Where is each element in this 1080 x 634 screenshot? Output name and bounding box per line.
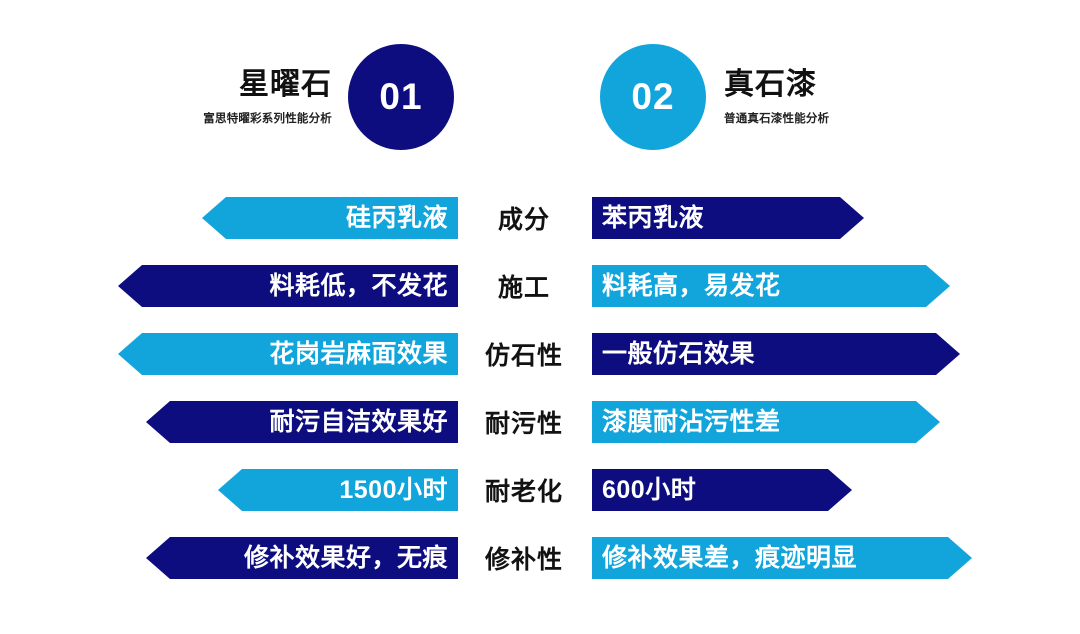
- comparison-rows: 硅丙乳液成分苯丙乳液料耗低，不发花施工料耗高，易发花花岗岩麻面效果仿石性一般仿石…: [0, 186, 1080, 594]
- comparison-bar-left: 耐污自洁效果好: [146, 401, 458, 443]
- comparison-attribute-label: 耐污性: [462, 401, 586, 443]
- comparison-bar-left: 花岗岩麻面效果: [118, 333, 458, 375]
- comparison-row: 硅丙乳液成分苯丙乳液: [0, 186, 1080, 254]
- comparison-bar-right-label: 苯丙乳液: [602, 206, 704, 231]
- comparison-bar-right: 漆膜耐沾污性差: [592, 401, 940, 443]
- comparison-row: 料耗低，不发花施工料耗高，易发花: [0, 254, 1080, 322]
- badge-circle-01: 01: [348, 44, 454, 150]
- comparison-bar-left-label: 耐污自洁效果好: [269, 410, 448, 435]
- badge-number-02: 02: [631, 76, 674, 118]
- comparison-attribute-label: 仿石性: [462, 333, 586, 375]
- product-left-title: 星曜石: [239, 68, 332, 103]
- comparison-bar-right-label: 一般仿石效果: [602, 342, 755, 367]
- comparison-bar-left-label: 料耗低，不发花: [269, 274, 448, 299]
- comparison-bar-right-label: 600小时: [602, 478, 696, 503]
- infographic-canvas: 星曜石 富思特曜彩系列性能分析 01 02 真石漆 普通真石漆性能分析 硅丙乳液…: [0, 0, 1080, 634]
- comparison-bar-left-label: 硅丙乳液: [346, 206, 448, 231]
- header-section: 星曜石 富思特曜彩系列性能分析 01 02 真石漆 普通真石漆性能分析: [0, 0, 1080, 170]
- comparison-bar-right: 料耗高，易发花: [592, 265, 950, 307]
- comparison-row: 耐污自洁效果好耐污性漆膜耐沾污性差: [0, 390, 1080, 458]
- comparison-bar-right-label: 料耗高，易发花: [602, 274, 781, 299]
- comparison-attribute-label: 耐老化: [462, 469, 586, 511]
- comparison-row: 花岗岩麻面效果仿石性一般仿石效果: [0, 322, 1080, 390]
- comparison-attribute-label: 成分: [462, 197, 586, 239]
- comparison-bar-right-label: 漆膜耐沾污性差: [602, 410, 781, 435]
- badge-number-01: 01: [379, 76, 422, 118]
- comparison-row: 1500小时耐老化600小时: [0, 458, 1080, 526]
- product-header-right: 02 真石漆 普通真石漆性能分析: [600, 44, 914, 150]
- product-right-title: 真石漆: [724, 68, 817, 103]
- product-right-subtitle: 普通真石漆性能分析: [724, 110, 829, 126]
- product-header-left: 星曜石 富思特曜彩系列性能分析 01: [150, 44, 454, 150]
- comparison-bar-left-label: 花岗岩麻面效果: [269, 342, 448, 367]
- comparison-bar-left: 硅丙乳液: [202, 197, 458, 239]
- comparison-bar-right: 600小时: [592, 469, 852, 511]
- badge-circle-02: 02: [600, 44, 706, 150]
- comparison-bar-right: 一般仿石效果: [592, 333, 960, 375]
- comparison-bar-left: 料耗低，不发花: [118, 265, 458, 307]
- comparison-attribute-label: 施工: [462, 265, 586, 307]
- comparison-bar-left-label: 修补效果好，无痕: [244, 546, 448, 571]
- product-left-subtitle: 富思特曜彩系列性能分析: [203, 110, 332, 126]
- comparison-attribute-label: 修补性: [462, 537, 586, 579]
- comparison-bar-right-label: 修补效果差，痕迹明显: [602, 546, 857, 571]
- comparison-bar-left-label: 1500小时: [339, 478, 448, 503]
- comparison-bar-right: 苯丙乳液: [592, 197, 864, 239]
- product-left-text-block: 星曜石 富思特曜彩系列性能分析: [150, 68, 332, 126]
- comparison-bar-left: 修补效果好，无痕: [146, 537, 458, 579]
- comparison-bar-left: 1500小时: [218, 469, 458, 511]
- product-right-text-block: 真石漆 普通真石漆性能分析: [724, 68, 914, 126]
- comparison-row: 修补效果好，无痕修补性修补效果差，痕迹明显: [0, 526, 1080, 594]
- comparison-bar-right: 修补效果差，痕迹明显: [592, 537, 972, 579]
